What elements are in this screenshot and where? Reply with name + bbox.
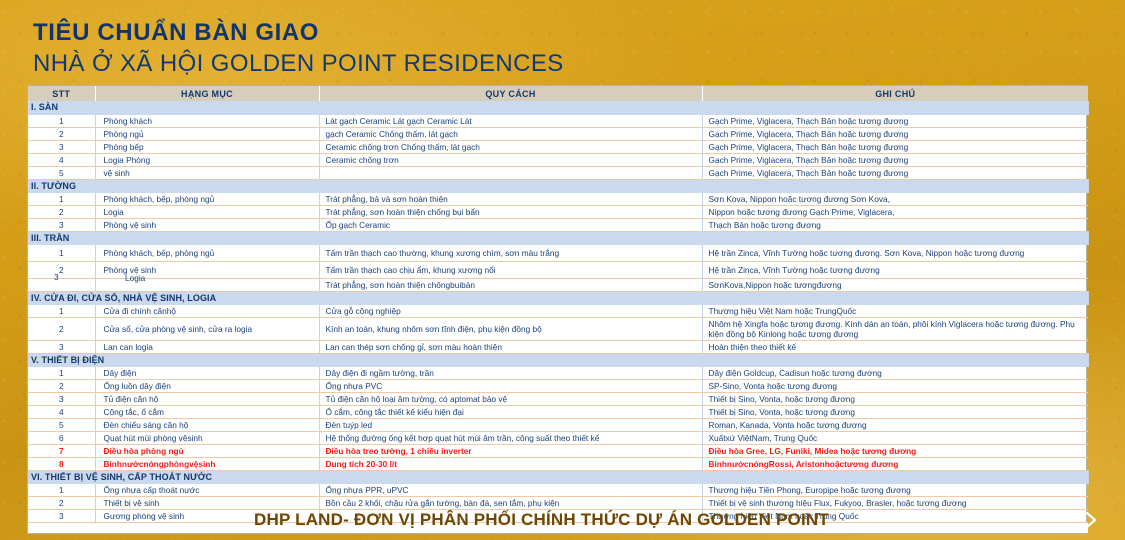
table-row: 4Logia PhòngCeramic chống trơnGạch Prime… <box>28 153 1088 166</box>
cell-quy-cach: Trát phẳng, sơn hoàn thiện chốngbuibản <box>319 278 702 291</box>
cell-ghi-chu: Gạch Prime, Viglacera, Thạch Bản hoặc tư… <box>702 153 1088 166</box>
cell-ghi-chu: Roman, Kanada, Vonta hoặc tương đương <box>702 418 1088 431</box>
cell-quy-cach: Lát gạch Ceramic Lát gạch Ceramic Lát <box>319 114 702 127</box>
cell-ghi-chu: Dây điện Goldcup, Cadisun hoặc tương đươ… <box>702 366 1088 379</box>
cell-ghi-chu: SơnKova,Nippon hoặc tươngđương <box>702 278 1088 291</box>
table-row: 5vệ sinhGạch Prime, Viglacera, Thạch Bản… <box>28 166 1088 179</box>
cell-ghi-chu: Hoàn thiện theo thiết kế <box>702 340 1088 353</box>
cell-quy-cach: Trát phẳng, bả và sơn hoàn thiện <box>319 192 702 205</box>
cell-ghi-chu: Thương hiệu Tiền Phong, Europipe hoặc tư… <box>702 483 1088 496</box>
cell-stt: 3 <box>28 218 95 231</box>
cell-hang-muc: Logia <box>95 205 319 218</box>
specification-table-container: STT HẠNG MỤC QUY CÁCH GHI CHÚ I. SÀN1Phò… <box>27 85 1087 534</box>
cell-quy-cach: Kính an toàn, khung nhôm sơn tĩnh điện, … <box>319 317 702 340</box>
table-row: 3Phòng bếpCeramic chống trơn Chống thấm,… <box>28 140 1088 153</box>
section-title: III. TRẦN <box>28 231 1088 244</box>
cell-hang-muc: Phòng vệ sinh <box>95 218 319 231</box>
cell-ghi-chu: Thương hiệu Việt Nam hoặc TrungQuốc <box>702 304 1088 317</box>
cell-quy-cach: Dung tích 20-30 lít <box>319 457 702 470</box>
cell-hang-muc: Đèn chiếu sáng căn hộ <box>95 418 319 431</box>
cell-stt: 4 <box>28 405 95 418</box>
cell-ghi-chu: Thiết bị Sino, Vonta, hoặc tương đương <box>702 392 1088 405</box>
cell-quy-cach: Ống nhựa PPR, uPVC <box>319 483 702 496</box>
cell-quy-cach: Lan can thép sơn chống gỉ, sơn màu hoàn … <box>319 340 702 353</box>
table-row: 1Phòng khách, bếp, phòng ngủTấm trần thạ… <box>28 244 1088 261</box>
cell-hang-muc: Phòng vệ sinh <box>95 261 319 278</box>
cell-stt: 1 <box>28 244 95 261</box>
table-row: 3Lan can logiaLan can thép sơn chống gỉ,… <box>28 340 1088 353</box>
page-header: TIÊU CHUẨN BÀN GIAO NHÀ Ở XÃ HỘI GOLDEN … <box>33 18 564 80</box>
footer-bar: DHP LAND- ĐƠN VỊ PHÂN PHỐI CHÍNH THỨC DỰ… <box>0 500 1125 540</box>
table-row: 6Quạt hút mùi phòng vệsinhHệ thống đường… <box>28 431 1088 444</box>
cell-stt: 4 <box>28 153 95 166</box>
cell-quy-cach: Ceramic chống trơn <box>319 153 702 166</box>
cell-hang-muc: Phòng khách <box>95 114 319 127</box>
cell-stt: 8 <box>28 457 95 470</box>
table-row: 1Dây điệnDây điện đi ngầm tường, trầnDây… <box>28 366 1088 379</box>
cell-hang-muc: Lan can logia <box>95 340 319 353</box>
cell-hang-muc: Logia <box>95 278 319 291</box>
section-title: V. THIẾT BỊ ĐIỆN <box>28 353 1088 366</box>
table-row: 4Công tắc, ổ cắmỔ cắm, công tắc thiết kế… <box>28 405 1088 418</box>
cell-hang-muc: vệ sinh <box>95 166 319 179</box>
cell-quy-cach: Hệ thống đường ống kết hợp quạt hút mùi … <box>319 431 702 444</box>
cell-ghi-chu: Xuấtxứ ViệtNam, Trung Quốc <box>702 431 1088 444</box>
cell-ghi-chu: Điều hòa Gree, LG, Funiki, Midea hoặc tư… <box>702 444 1088 457</box>
cell-stt: 5 <box>28 418 95 431</box>
cell-hang-muc: Dây điện <box>95 366 319 379</box>
cell-quy-cach: Dây điện đi ngầm tường, trần <box>319 366 702 379</box>
table-row: 1Ống nhựa cấp thoát nướcỐng nhựa PPR, uP… <box>28 483 1088 496</box>
cell-quy-cach: Tấm trần thạch cao chịu ẩm, khung xương … <box>319 261 702 278</box>
specification-table: STT HẠNG MỤC QUY CÁCH GHI CHÚ I. SÀN1Phò… <box>28 86 1089 533</box>
table-row: 2Phòng vệ sinhTấm trần thạch cao chịu ẩm… <box>28 261 1088 278</box>
column-header-quy-cach: QUY CÁCH <box>319 86 702 101</box>
cell-stt: 3 <box>28 392 95 405</box>
cell-stt: 1 <box>28 304 95 317</box>
section-header-row: V. THIẾT BỊ ĐIỆN <box>28 353 1088 366</box>
cell-quy-cach: Cửa gỗ công nghiệp <box>319 304 702 317</box>
cell-quy-cach: Ốp gạch Ceramic <box>319 218 702 231</box>
table-row: 1Phòng kháchLát gạch Ceramic Lát gạch Ce… <box>28 114 1088 127</box>
cell-hang-muc: Ống nhựa cấp thoát nước <box>95 483 319 496</box>
cell-stt: 3 <box>28 140 95 153</box>
cell-hang-muc: Cửa đi chính cănhộ <box>95 304 319 317</box>
chevron-right-icon[interactable] <box>1084 510 1098 530</box>
cell-ghi-chu: Thạch Bản hoặc tương đương <box>702 218 1088 231</box>
table-row: 2Ống luồn dây điệnỐng nhựa PVCSP-Sino, V… <box>28 379 1088 392</box>
table-body: I. SÀN1Phòng kháchLát gạch Ceramic Lát g… <box>28 101 1088 533</box>
cell-ghi-chu: Gạch Prime, Viglacera, Thạch Bản hoặc tư… <box>702 140 1088 153</box>
cell-ghi-chu: Gạch Prime, Viglacera, Thạch Bản hoặc tư… <box>702 114 1088 127</box>
section-title: VI. THIẾT BỊ VỆ SINH, CẤP THOÁT NƯỚC <box>28 470 1088 483</box>
page-title: TIÊU CHUẨN BÀN GIAO <box>33 18 564 48</box>
section-header-row: VI. THIẾT BỊ VỆ SINH, CẤP THOÁT NƯỚC <box>28 470 1088 483</box>
cell-quy-cach: Tủ điện căn hộ loại âm tường, có aptomat… <box>319 392 702 405</box>
cell-hang-muc: Điều hòa phòng ngủ <box>95 444 319 457</box>
cell-hang-muc: Phòng khách, bếp, phòng ngủ <box>95 244 319 261</box>
cell-quy-cach: Trát phẳng, sơn hoàn thiện chống bụi bẩn <box>319 205 702 218</box>
cell-hang-muc: Phòng bếp <box>95 140 319 153</box>
table-row: 2Phòng ngủgạch Ceramic Chống thấm, lát g… <box>28 127 1088 140</box>
column-header-ghi-chu: GHI CHÚ <box>702 86 1088 101</box>
section-header-row: I. SÀN <box>28 101 1088 114</box>
cell-hang-muc: Công tắc, ổ cắm <box>95 405 319 418</box>
table-header: STT HẠNG MỤC QUY CÁCH GHI CHÚ <box>28 86 1088 101</box>
cell-hang-muc: Phòng khách, bếp, phòng ngủ <box>95 192 319 205</box>
table-row: 33LogiaLogiaTrát phẳng, sơn hoàn thiện c… <box>28 278 1088 291</box>
cell-stt: 2 <box>28 205 95 218</box>
column-header-stt: STT <box>28 86 95 101</box>
cell-stt: 1 <box>28 192 95 205</box>
cell-stt: 33Logia <box>28 278 95 291</box>
cell-hang-muc: Logia Phòng <box>95 153 319 166</box>
cell-hang-muc: Cửa sổ, cửa phòng vệ sinh, cửa ra logia <box>95 317 319 340</box>
section-header-row: II. TƯỜNG <box>28 179 1088 192</box>
cell-quy-cach: Tấm trần thạch cao thường, khung xương c… <box>319 244 702 261</box>
table-row: 1Phòng khách, bếp, phòng ngủTrát phẳng, … <box>28 192 1088 205</box>
cell-ghi-chu: Thiết bị Sino, Vonta, hoặc tương đương <box>702 405 1088 418</box>
cell-quy-cach: Ceramic chống trơn Chống thấm, lát gạch <box>319 140 702 153</box>
cell-hang-muc: Binhnướcnóngphòngvệsinh <box>95 457 319 470</box>
cell-ghi-chu: Gạch Prime, Viglacera, Thạch Bản hoặc tư… <box>702 166 1088 179</box>
cell-hang-muc: Phòng ngủ <box>95 127 319 140</box>
table-row: 2LogiaTrát phẳng, sơn hoàn thiện chống b… <box>28 205 1088 218</box>
cell-stt: 2 <box>28 379 95 392</box>
footer-text: DHP LAND- ĐƠN VỊ PHÂN PHỐI CHÍNH THỨC DỰ… <box>254 510 829 530</box>
cell-ghi-chu: BinhnướcnóngRossi, Aristonhoặctương đươn… <box>702 457 1088 470</box>
section-title: IV. CỬA ĐI, CỬA SỔ, NHÀ VỆ SINH, LOGIA <box>28 291 1088 304</box>
table-header-row: STT HẠNG MỤC QUY CÁCH GHI CHÚ <box>28 86 1088 101</box>
column-header-hang-muc: HẠNG MỤC <box>95 86 319 101</box>
cell-ghi-chu: Nippon hoặc tương đương Gạch Prime, Vigl… <box>702 205 1088 218</box>
cell-stt: 3 <box>28 340 95 353</box>
page-subtitle: NHÀ Ở XÃ HỘI GOLDEN POINT RESIDENCES <box>33 48 564 80</box>
cell-quy-cach: Điều hòa treo tường, 1 chiều inverter <box>319 444 702 457</box>
cell-quy-cach: Ổ cắm, công tắc thiết kế kiểu hiện đại <box>319 405 702 418</box>
section-title: I. SÀN <box>28 101 1088 114</box>
cell-quy-cach: Đèn tuýp led <box>319 418 702 431</box>
cell-ghi-chu: Gạch Prime, Viglacera, Thạch Bản hoặc tư… <box>702 127 1088 140</box>
cell-ghi-chu: SP-Sino, Vonta hoặc tương đương <box>702 379 1088 392</box>
cell-stt: 2 <box>28 127 95 140</box>
table-row: 5Đèn chiếu sáng căn hộĐèn tuýp ledRoman,… <box>28 418 1088 431</box>
cell-stt: 1 <box>28 483 95 496</box>
table-row: 2Cửa sổ, cửa phòng vệ sinh, cửa ra logia… <box>28 317 1088 340</box>
cell-quy-cach <box>319 166 702 179</box>
cell-stt: 1 <box>28 114 95 127</box>
cell-hang-muc: Ống luồn dây điện <box>95 379 319 392</box>
cell-stt: 1 <box>28 366 95 379</box>
cell-stt: 7 <box>28 444 95 457</box>
cell-stt: 2 <box>28 317 95 340</box>
table-row: 3Tủ điện căn hộTủ điện căn hộ loại âm tư… <box>28 392 1088 405</box>
cell-ghi-chu: Hệ trần Zinca, Vĩnh Tường hoặc tương đươ… <box>702 261 1088 278</box>
cell-quy-cach: gạch Ceramic Chống thấm, lát gạch <box>319 127 702 140</box>
cell-stt: 5 <box>28 166 95 179</box>
section-header-row: IV. CỬA ĐI, CỬA SỔ, NHÀ VỆ SINH, LOGIA <box>28 291 1088 304</box>
cell-ghi-chu: Nhôm hệ Xingfa hoặc tương đương. Kính dá… <box>702 317 1088 340</box>
table-row: 7Điều hòa phòng ngủĐiều hòa treo tường, … <box>28 444 1088 457</box>
table-row: 1Cửa đi chính cănhộCửa gỗ công nghiệpThư… <box>28 304 1088 317</box>
cell-stt: 6 <box>28 431 95 444</box>
cell-ghi-chu: Sơn Kova, Nippon hoặc tương đương Sơn Ko… <box>702 192 1088 205</box>
table-row: 8BinhnướcnóngphòngvệsinhDung tích 20-30 … <box>28 457 1088 470</box>
table-row: 3Phòng vệ sinhỐp gạch CeramicThạch Bản h… <box>28 218 1088 231</box>
section-header-row: III. TRẦN <box>28 231 1088 244</box>
cell-ghi-chu: Hệ trần Zinca, Vĩnh Tường hoặc tương đươ… <box>702 244 1088 261</box>
cell-quy-cach: Ống nhựa PVC <box>319 379 702 392</box>
cell-hang-muc: Tủ điện căn hộ <box>95 392 319 405</box>
cell-hang-muc: Quạt hút mùi phòng vệsinh <box>95 431 319 444</box>
section-title: II. TƯỜNG <box>28 179 1088 192</box>
cell-stt: 2 <box>28 261 95 278</box>
